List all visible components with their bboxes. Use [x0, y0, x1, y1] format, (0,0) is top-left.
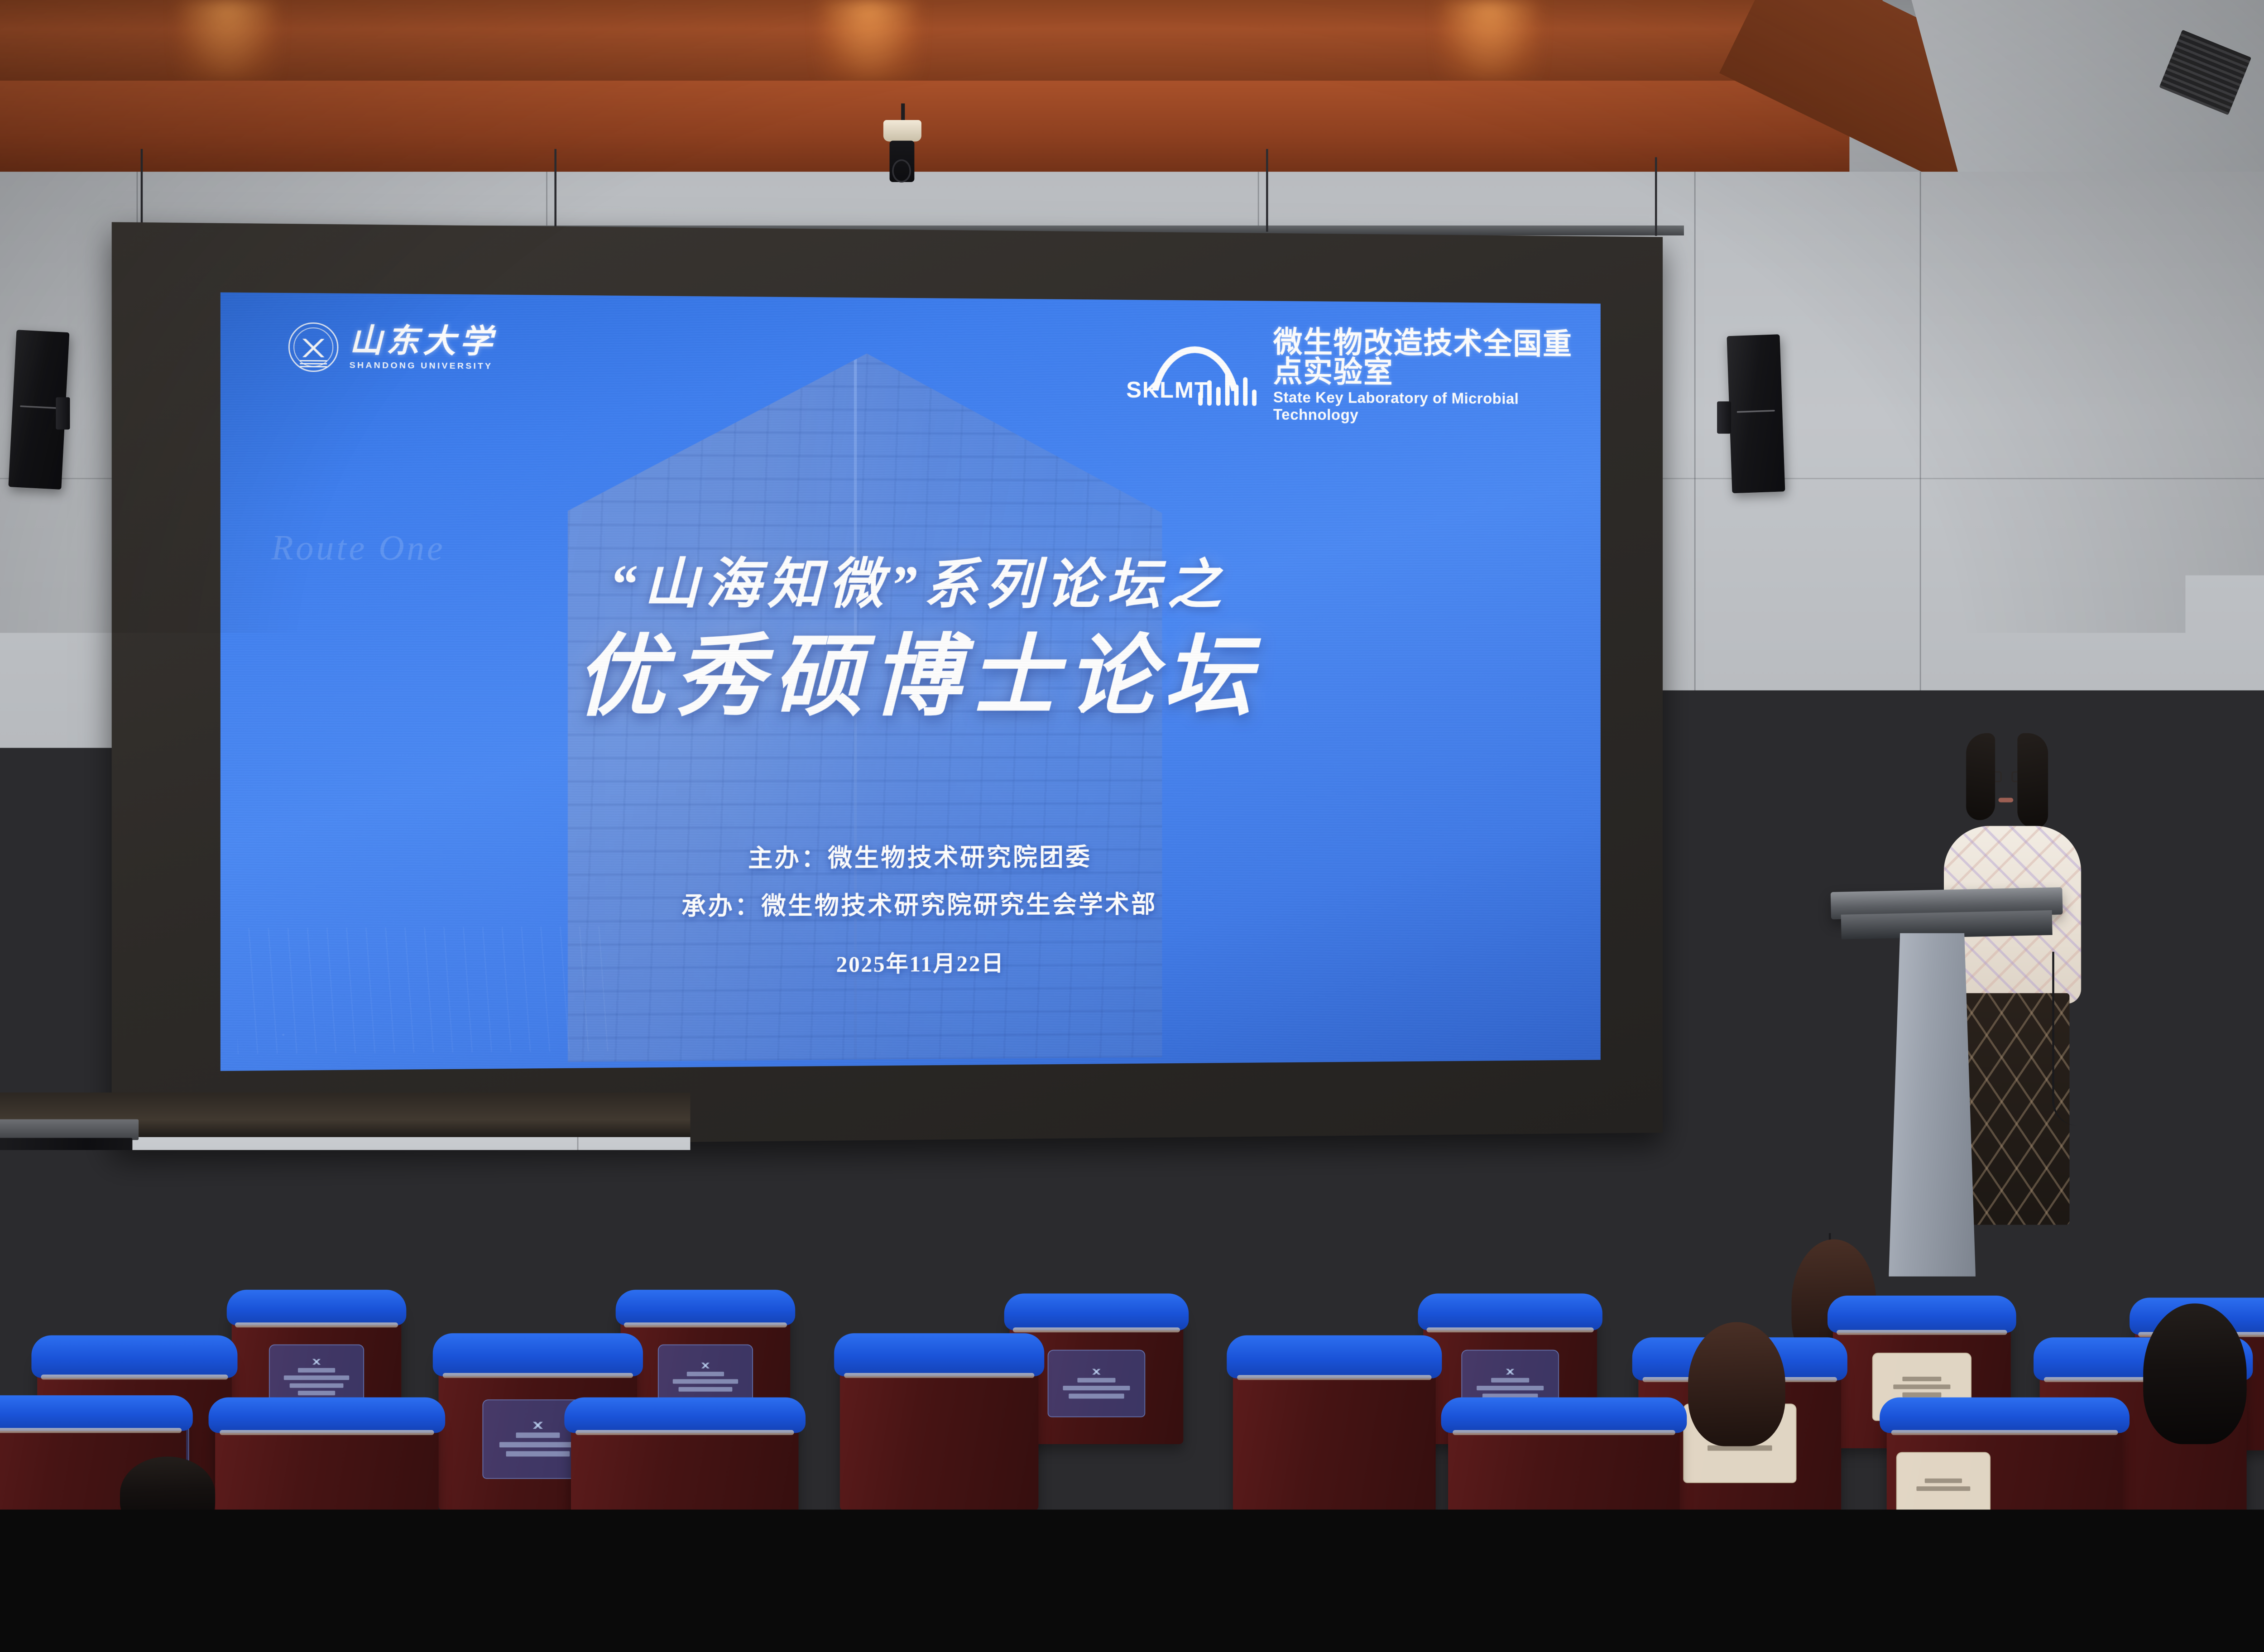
speaker-bracket: [56, 397, 70, 429]
seat-headrest: [31, 1335, 237, 1378]
seat[interactable]: [1010, 1407, 1242, 1510]
audience-head: [1688, 1200, 1777, 1337]
plaque-line: [289, 1383, 344, 1388]
seat-trim: [0, 1428, 182, 1433]
lab-name-en: State Key Laboratory of Microbial Techno…: [1273, 389, 1601, 425]
ceiling-light-glow: [1440, 0, 1539, 83]
plaque-line: [1902, 1393, 1942, 1397]
ceiling-camera-icon: [883, 120, 921, 142]
seat[interactable]: [1887, 1407, 2123, 1510]
plaque-line: [499, 1442, 576, 1447]
camera-lens-ring: [892, 159, 911, 182]
audience-head: [1312, 1192, 1399, 1324]
auditorium-scene: Route One 山东大学 SHANDONG UNIVERSITY: [0, 0, 2264, 1509]
university-seal-icon: [288, 322, 338, 372]
ceiling-light-glow: [819, 0, 918, 83]
seat-trim: [844, 1373, 1035, 1378]
seat-headrest: [615, 1290, 795, 1325]
seat-trim: [1014, 1430, 1237, 1435]
plaque-line: [1925, 1479, 1962, 1483]
hair-accessory: [1560, 1227, 1586, 1250]
seat[interactable]: [571, 1407, 799, 1510]
plaque-logo-icon: [1501, 1369, 1519, 1375]
seat-headrest: [834, 1333, 1045, 1376]
plaque-line: [1077, 1378, 1115, 1383]
presenter-mouth: [1998, 798, 2013, 802]
seat-plaque: [1896, 1452, 1990, 1509]
slide-main-title: 优秀硕博士论坛: [221, 603, 1601, 734]
sklmt-mark-icon: SKLMT: [1126, 343, 1261, 406]
plaque-line: [298, 1368, 335, 1373]
ceiling-wood-upper-band: [0, 0, 1883, 83]
seat-trim: [1837, 1330, 2007, 1335]
sklmt-acronym: SKLMT: [1126, 376, 1209, 403]
ceiling-wood-beam: [0, 81, 1849, 180]
stage-panel-seam: [577, 1137, 579, 1257]
seat-headrest: [1227, 1335, 1442, 1378]
plaque-line: [1916, 1486, 1970, 1491]
seat-headrest: [1880, 1397, 2130, 1433]
lectern-column: [1889, 933, 1976, 1276]
plaque-line: [284, 1375, 349, 1380]
wall-power-socket: [1843, 1154, 1868, 1178]
plaque-line: [687, 1372, 724, 1376]
screen-hanger-wire: [1266, 149, 1268, 232]
plaque-line: [1491, 1378, 1529, 1383]
laptop-slide-title: 优秀硕博士论坛: [929, 1236, 1146, 1263]
slide-host-line: 主办：微生物技术研究院团委: [221, 836, 1601, 876]
seat-trim: [576, 1430, 794, 1435]
university-name-en: SHANDONG UNIVERSITY: [350, 360, 496, 371]
plaque-line: [298, 1391, 335, 1395]
seat-headrest: [226, 1290, 406, 1325]
seat-trim: [235, 1322, 398, 1327]
seal-mountain-icon: [298, 339, 328, 357]
seat-trim: [624, 1322, 787, 1327]
plaque-logo-icon: [1088, 1369, 1105, 1375]
ceiling-light-glow: [178, 0, 277, 83]
floor-speaker-top: [0, 1119, 139, 1140]
seat[interactable]: [1448, 1407, 1680, 1510]
wall-speaker-right: [1727, 334, 1785, 493]
presenter-hair-right: [2017, 733, 2048, 828]
plaque-line: [1063, 1386, 1130, 1390]
plaque-line: [1894, 1384, 1950, 1389]
plaque-logo-icon: [528, 1421, 548, 1428]
plaque-line: [673, 1379, 738, 1384]
screen-hanger-wire: [1655, 157, 1657, 236]
plaque-line: [1477, 1386, 1544, 1390]
speaker-bracket: [1717, 401, 1731, 433]
seat[interactable]: [215, 1407, 438, 1510]
seat-headrest: [1418, 1294, 1602, 1330]
seat-trim: [1427, 1327, 1593, 1332]
laptop-slide-subtitle: “山海知微”系列论坛之: [929, 1279, 1146, 1296]
audio-cable: [2052, 952, 2102, 1126]
lab-name-cn: 微生物改造技术全国重点实验室: [1273, 327, 1601, 389]
seat-trim: [1237, 1375, 1432, 1380]
slide-logo-row: 山东大学 SHANDONG UNIVERSITY SKLMT: [221, 317, 1601, 401]
screen-hanger-wire: [554, 149, 556, 232]
university-name-cn: 山东大学: [350, 324, 496, 358]
seat-trim: [1453, 1430, 1675, 1435]
seat-trim: [1013, 1327, 1180, 1332]
plaque-line: [506, 1451, 570, 1457]
seat-trim: [442, 1373, 633, 1378]
seat[interactable]: [1233, 1347, 1436, 1509]
seal-wave-lines: [300, 360, 327, 361]
seat-headrest: [432, 1333, 643, 1376]
audience-head: [37, 1202, 126, 1339]
seat-headrest: [564, 1397, 806, 1433]
presenter-hair-left: [1966, 733, 1995, 820]
seat-trim: [41, 1375, 228, 1380]
shandong-university-logo: 山东大学 SHANDONG UNIVERSITY: [288, 322, 496, 373]
seat-headrest: [1828, 1296, 2016, 1333]
slide-coorganizer-line: 承办：微生物技术研究院研究生会学术部: [221, 883, 1601, 924]
audience-head: [1688, 1322, 1785, 1446]
presentation-slide: Route One 山东大学 SHANDONG UNIVERSITY: [221, 293, 1601, 1071]
plaque-line: [678, 1387, 733, 1392]
audience-head: [2143, 1303, 2246, 1444]
slide-date: 2025年11月22日: [221, 941, 1601, 982]
plaque-logo-icon: [697, 1363, 714, 1369]
plaque-line: [516, 1432, 560, 1438]
seat-headrest: [1441, 1397, 1687, 1433]
seat-headrest: [208, 1397, 445, 1433]
plaque-line: [1902, 1377, 1942, 1381]
seat-trim: [1891, 1430, 2118, 1435]
seat-trim: [220, 1430, 434, 1435]
sklmt-waveform-icon: [1198, 365, 1259, 406]
slide-foliage-silhouette: [237, 926, 617, 1054]
sklmt-lab-logo: SKLMT 微生物改造技术全国重点实验室 St: [1126, 326, 1601, 425]
laptop-slide-tag: [938, 1215, 1011, 1228]
projection-screen[interactable]: Route One 山东大学 SHANDONG UNIVERSITY: [112, 222, 1663, 1148]
seat-headrest: [0, 1395, 193, 1431]
floor-speaker-top: [1607, 1109, 1750, 1130]
seat-headrest: [1004, 1294, 1189, 1330]
seat-headrest: [1002, 1397, 1248, 1433]
screen-hanger-wire: [141, 149, 143, 232]
wall-seam: [1694, 172, 1696, 1061]
plaque-logo-icon: [308, 1359, 325, 1365]
